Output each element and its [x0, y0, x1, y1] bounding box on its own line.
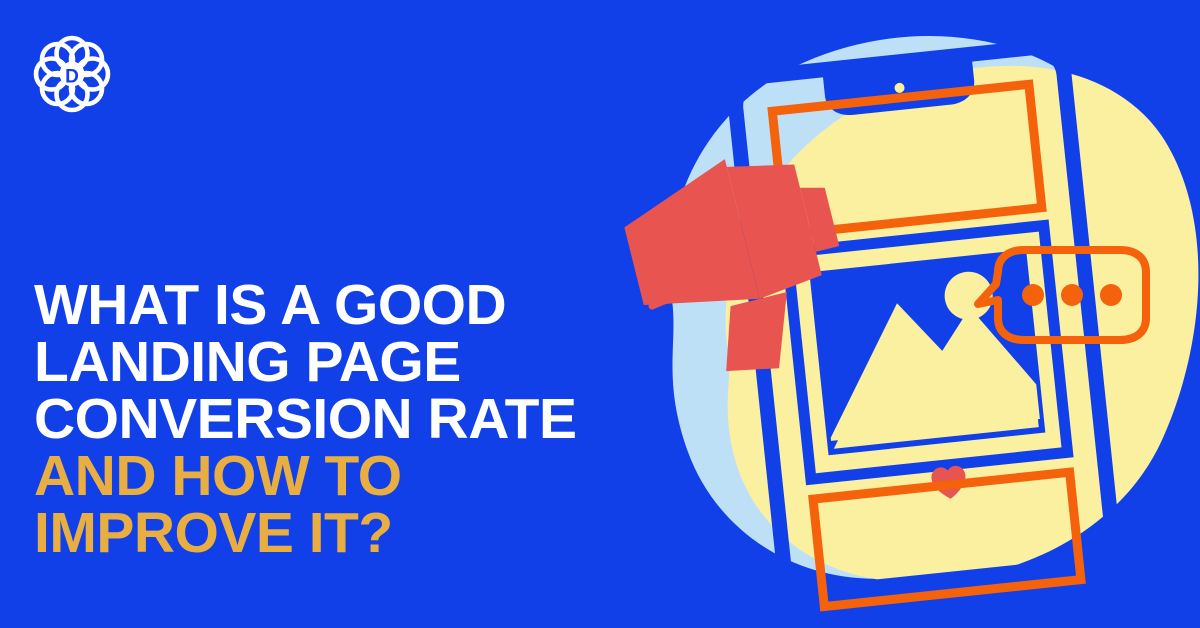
logo-letter: D — [65, 67, 79, 88]
headline-line-2: LANDING PAGE — [34, 334, 674, 391]
headline-line-5: IMPROVE IT? — [34, 505, 674, 562]
headline-block: WHAT IS A GOOD LANDING PAGE CONVERSION R… — [34, 277, 674, 562]
hero-illustration — [600, 0, 1200, 628]
speech-bubble-dot-3 — [1100, 284, 1122, 306]
headline-line-1: WHAT IS A GOOD — [34, 277, 674, 334]
headline-line-4: AND HOW TO — [34, 448, 674, 505]
social-share-banner: D WHAT IS A GOOD LANDING PAGE CONVERSION… — [0, 0, 1200, 628]
brand-logo[interactable]: D — [27, 29, 117, 119]
speech-bubble-dot-1 — [1022, 284, 1044, 306]
headline-line-3: CONVERSION RATE — [34, 391, 674, 448]
speech-bubble-dot-2 — [1061, 284, 1083, 306]
